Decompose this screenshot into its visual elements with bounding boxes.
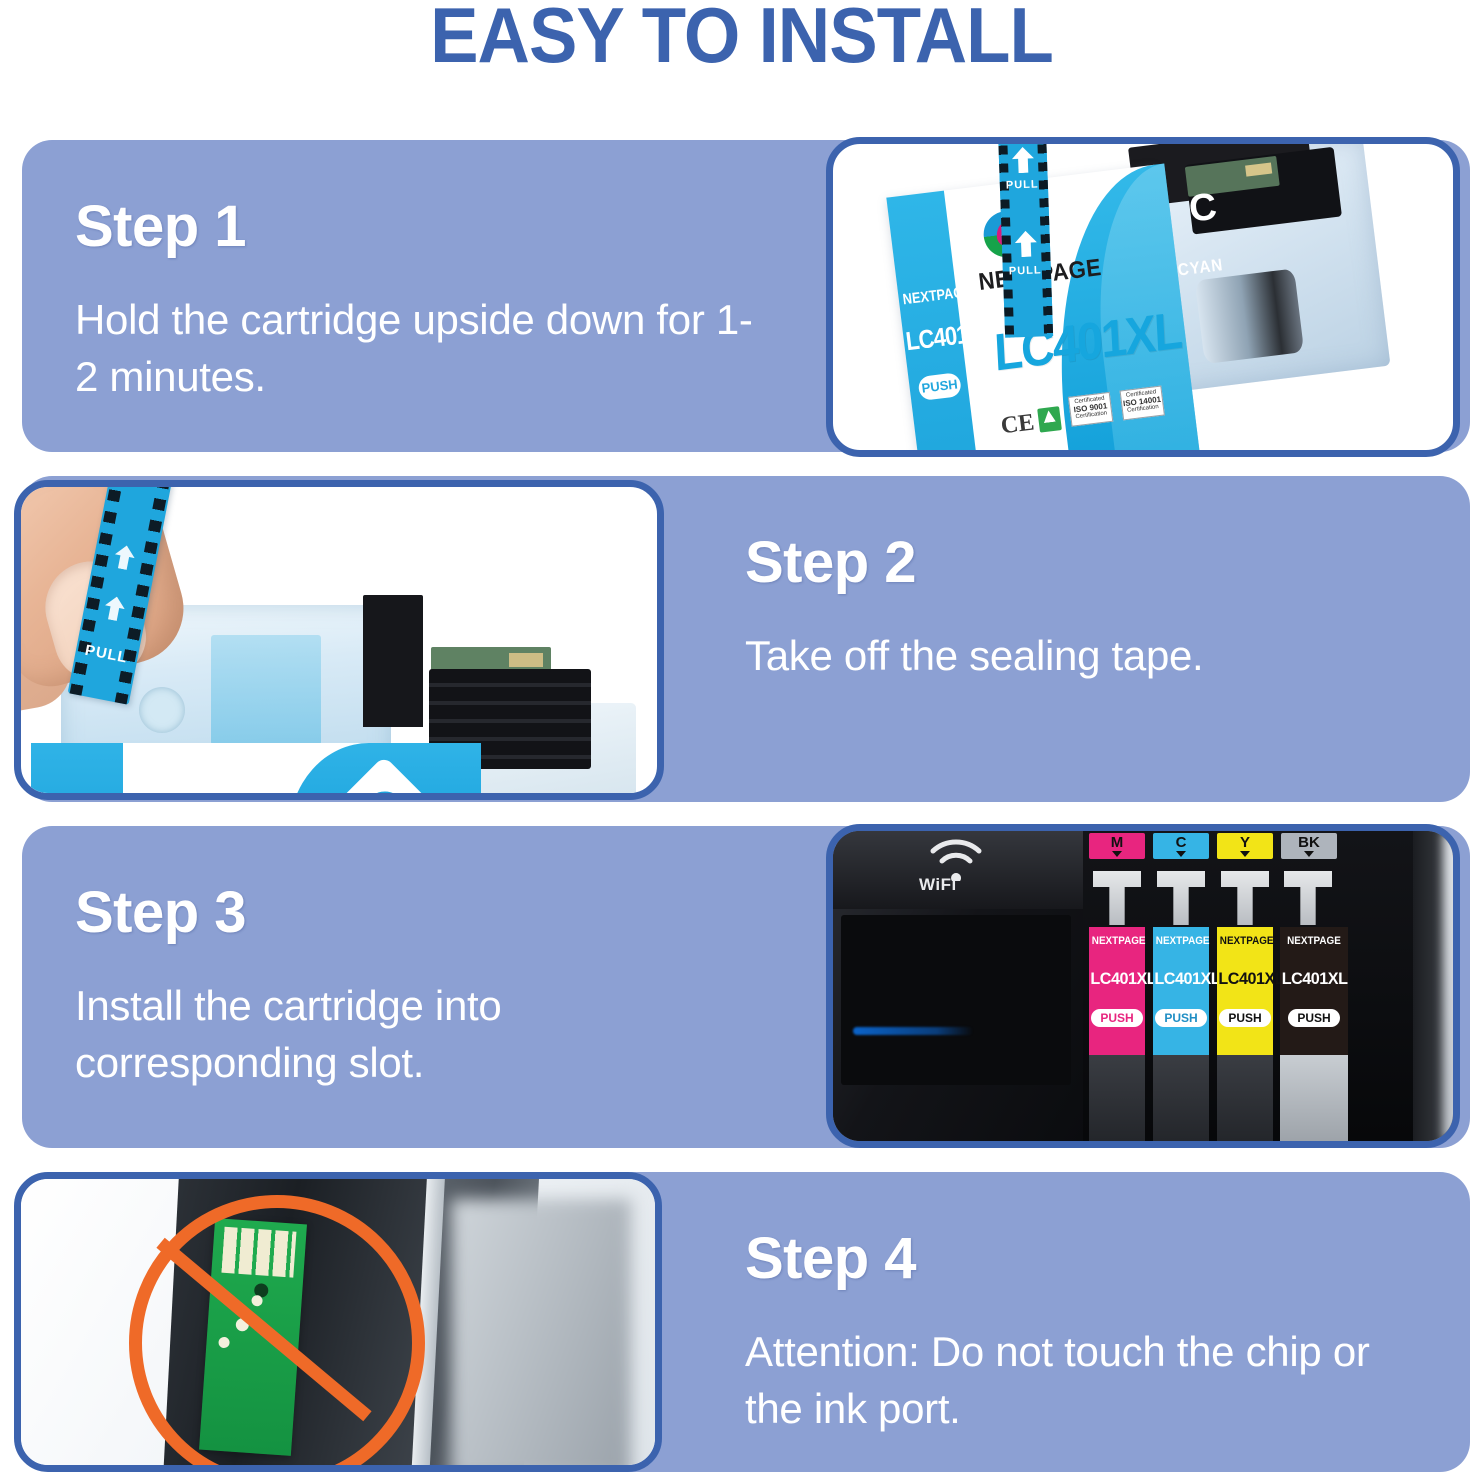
label-brand: NEXTPAGE (1220, 935, 1270, 947)
step-4-title: Step 4 (745, 1230, 916, 1288)
pull-label-2: PULL (1009, 264, 1042, 277)
hand-graphic: PULL (21, 487, 261, 735)
printer-inner-cavity (841, 915, 1071, 1085)
background-blur (451, 1199, 631, 1465)
step-2-body: Take off the sealing tape. (745, 628, 1445, 685)
iso-9001-badge: Certificated ISO 9001 Certification (1068, 392, 1113, 427)
step-3-image-card: WiFi M C Y BK NEXTPAGE LC401XL PUSH NEXT… (826, 824, 1460, 1148)
label-brand: NEXTPAGE (1092, 935, 1142, 947)
push-badge: PUSH (1288, 1009, 1339, 1027)
chip-warning-scene (21, 1179, 655, 1465)
step-4-body: Attention: Do not touch the chip or the … (745, 1324, 1435, 1437)
step-1-body: Hold the cartridge upside down for 1-2 m… (75, 292, 775, 405)
ce-mark-icon: CE (999, 409, 1035, 440)
pull-arrow-icon-2 (103, 595, 127, 622)
step-2-image-card: NEXTPAGE C PULL (14, 480, 664, 800)
label-model: LC401XL (1282, 969, 1347, 989)
step-1-image-card: NEXTPAGE LC401XL PUSH NEXTPAGE LC401XL C… (826, 137, 1460, 457)
push-badge: PUSH (1219, 1009, 1270, 1027)
pull-label-1: PULL (1006, 178, 1039, 191)
push-badge: PUSH (1155, 1009, 1206, 1027)
cartridge-label-side-strip: NEXTPAGE (31, 743, 123, 793)
wifi-label: WiFi (919, 875, 957, 895)
cartridge-body (1217, 1055, 1273, 1141)
slot-header-c: C (1153, 833, 1209, 859)
cartridge-body (1280, 1055, 1348, 1141)
label-brand: NEXTPAGE (1156, 935, 1206, 947)
page-title: EASY TO INSTALL (52, 0, 1431, 74)
pull-arrow-icon-2 (1014, 231, 1037, 258)
printer-background-blur (1443, 831, 1453, 1141)
cartridge-label: NEXTPAGE LC401XL PUSH (1217, 927, 1273, 1055)
sealing-tape: PULL PULL (998, 144, 1053, 338)
eco-recycle-icon (1037, 406, 1062, 433)
color-letter-badge: C (1177, 183, 1228, 234)
label-model: LC401XL (1218, 969, 1271, 989)
slot-header-bk: BK (1281, 833, 1337, 859)
pull-arrow-icon-1 (112, 544, 136, 571)
cartridge-upside-down-scene: NEXTPAGE LC401XL PUSH NEXTPAGE LC401XL C… (833, 144, 1453, 450)
step-2-title: Step 2 (745, 534, 916, 592)
printer-blue-led (853, 1027, 973, 1035)
cyan-cartridge: NEXTPAGE LC401XL PUSH NEXTPAGE LC401XL C… (883, 144, 1390, 450)
step-3-title: Step 3 (75, 884, 246, 942)
iso-14001-badge: Certificated ISO 14001 Certification (1120, 386, 1165, 421)
pull-arrow-icon-1 (1012, 147, 1035, 174)
peel-tape-scene: NEXTPAGE C PULL (21, 487, 657, 793)
slot-header-m: M (1089, 833, 1145, 859)
step-1-title: Step 1 (75, 198, 246, 256)
step-3-body: Install the cartridge into corresponding… (75, 978, 715, 1091)
side-push-badge: PUSH (917, 372, 962, 401)
cartridge-label: NEXTPAGE LC401XL PUSH (1153, 927, 1209, 1055)
cartridge-body (1089, 1055, 1145, 1141)
slot-header-y: Y (1217, 833, 1273, 859)
push-badge: PUSH (1091, 1009, 1142, 1027)
step-4-image-card (14, 1172, 662, 1472)
label-model: LC401XL (1090, 969, 1143, 989)
pull-label: PULL (84, 642, 130, 667)
printer-install-scene: WiFi M C Y BK NEXTPAGE LC401XL PUSH NEXT… (833, 831, 1453, 1141)
color-letter: C (347, 771, 421, 793)
label-model: LC401XL (1154, 969, 1207, 989)
cartridge-body (1153, 1055, 1209, 1141)
label-brand: NEXTPAGE (1283, 935, 1344, 947)
cartridge-black-fin (363, 595, 423, 727)
cartridge-ink-roller (1195, 268, 1304, 364)
cartridge-label: NEXTPAGE LC401XL PUSH (1280, 927, 1348, 1055)
cartridge-label: NEXTPAGE LC401XL PUSH (1089, 927, 1145, 1055)
